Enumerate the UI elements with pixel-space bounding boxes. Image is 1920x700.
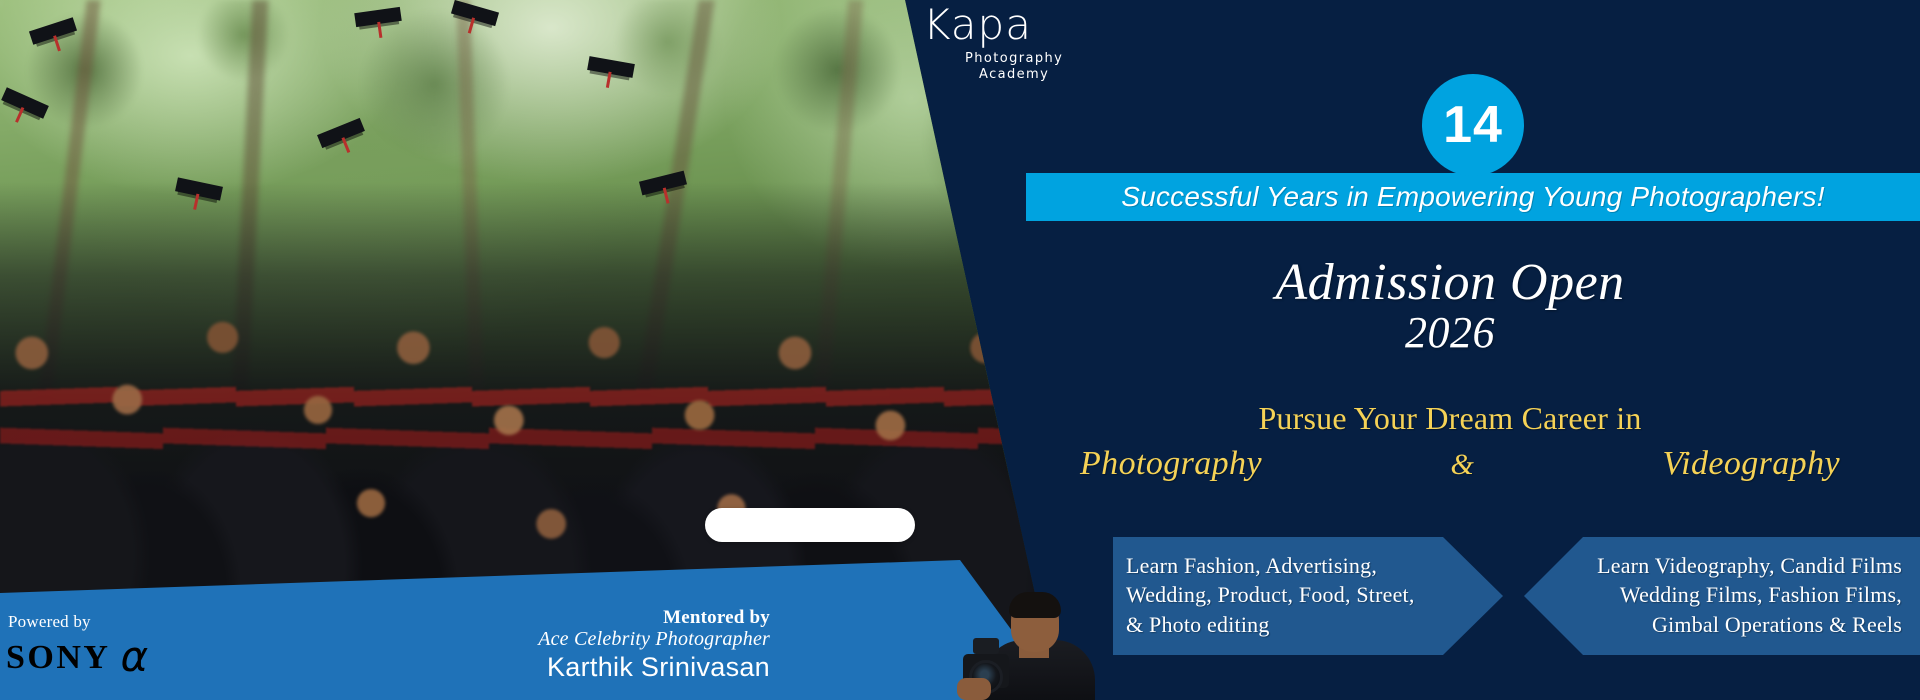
sony-alpha-symbol: α (120, 632, 148, 681)
info-box-videography-line: Gimbal Operations & Reels (1524, 610, 1902, 639)
info-box-photography-line: Learn Fashion, Advertising, (1126, 551, 1503, 580)
admission-headline-line1: Admission Open (1060, 256, 1840, 309)
kapa-logo[interactable]: Kapa Photography Academy (923, 4, 1063, 84)
mentored-by-label: Mentored by (500, 608, 770, 628)
logo-name-text: Kapa (923, 4, 1063, 46)
info-box-photography: Learn Fashion, Advertising, Wedding, Pro… (1113, 537, 1503, 655)
mentor-hand (957, 678, 991, 700)
mentor-portrait-photo (955, 588, 1105, 700)
powered-by-label: Powered by (8, 612, 91, 632)
years-highlight-strip: Successful Years in Empowering Young Pho… (1026, 173, 1920, 221)
discipline-videography: Videography (1662, 445, 1840, 483)
info-box-videography-line: Wedding Films, Fashion Films, (1524, 580, 1902, 609)
mentor-hair (1009, 592, 1061, 618)
sony-wordmark-text: SONY (6, 639, 110, 676)
career-disciplines: Photography & Videography (1080, 445, 1840, 483)
discipline-separator: & (1451, 448, 1474, 482)
mentor-credit: Mentored by Ace Celebrity Photographer K… (500, 608, 770, 682)
info-box-videography: Learn Videography, Candid Films Wedding … (1524, 537, 1920, 655)
admission-headline-line2: 2026 (1060, 309, 1840, 357)
promotional-banner: Powered by SONYα Mentored by Ace Celebri… (0, 0, 1920, 700)
mentor-role-label: Ace Celebrity Photographer (500, 628, 770, 651)
mentor-name-label: Karthik Srinivasan (500, 652, 770, 682)
years-count-badge: 14 (1422, 74, 1524, 176)
discipline-photography: Photography (1080, 445, 1262, 483)
admission-headline: Admission Open 2026 (1060, 256, 1840, 357)
logo-subtitle-line2: Academy (965, 67, 1063, 83)
info-box-photography-line: & Photo editing (1126, 610, 1503, 639)
camera-flash-icon (973, 638, 999, 654)
sony-logo: SONYα (6, 636, 148, 678)
logo-subtitle-line1: Photography (965, 51, 1063, 67)
logo-subtitle: Photography Academy (965, 51, 1063, 84)
info-box-photography-line: Wedding, Product, Food, Street, (1126, 580, 1503, 609)
years-highlight-text: Successful Years in Empowering Young Pho… (1121, 181, 1824, 213)
info-box-videography-line: Learn Videography, Candid Films (1524, 551, 1902, 580)
blank-name-pill (705, 508, 915, 542)
career-tagline: Pursue Your Dream Career in (1060, 400, 1840, 437)
